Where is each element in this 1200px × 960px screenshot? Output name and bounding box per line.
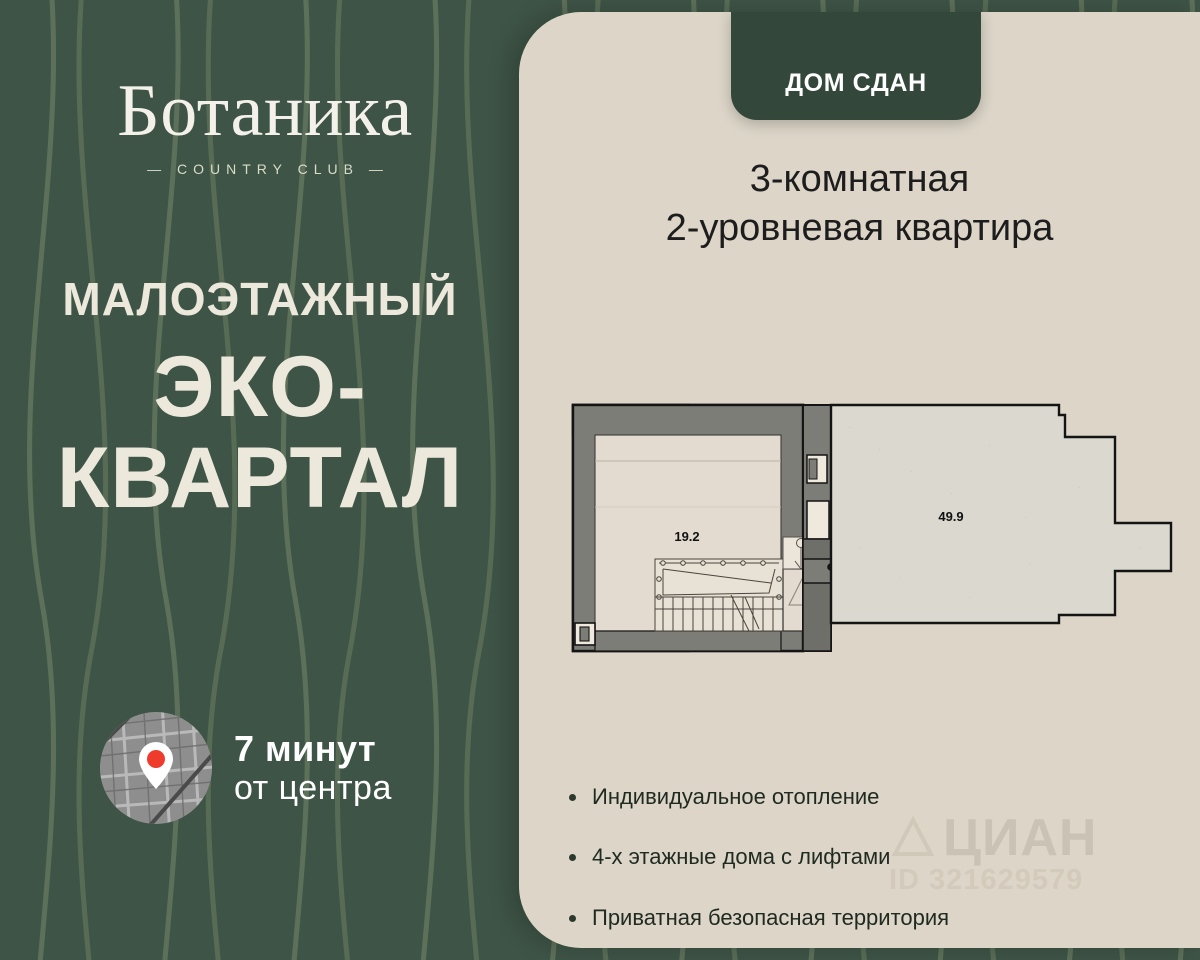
- brand-tagline: — COUNTRY CLUB —: [0, 161, 520, 177]
- offer-title-line-2: 2-уровневая квартира: [519, 204, 1200, 253]
- location-caption: от центра: [234, 769, 392, 808]
- left-column: Ботаника — COUNTRY CLUB — МАЛОЭТАЖНЫЙ ЭК…: [0, 0, 520, 960]
- list-item: Приватная безопасная территория: [569, 905, 1179, 931]
- bullet-icon: [569, 915, 576, 922]
- bullet-icon: [569, 794, 576, 801]
- headline: МАЛОЭТАЖНЫЙ ЭКО- КВАРТАЛ: [0, 276, 520, 524]
- floorplan-drawing: 19.2: [559, 397, 1189, 657]
- status-badge: ДОМ СДАН: [731, 12, 981, 120]
- feature-label: Индивидуальное отопление: [592, 784, 879, 810]
- feature-label: 4-х этажные дома с лифтами: [592, 844, 890, 870]
- advertisement-banner: Ботаника — COUNTRY CLUB — МАЛОЭТАЖНЫЙ ЭК…: [0, 0, 1200, 960]
- headline-line-1: МАЛОЭТАЖНЫЙ: [0, 276, 520, 322]
- list-item: 4-х этажные дома с лифтами: [569, 844, 1179, 870]
- brand-logo: Ботаника — COUNTRY CLUB —: [0, 76, 520, 177]
- status-badge-label: ДОМ СДАН: [785, 69, 926, 98]
- offer-panel: ДОМ СДАН 3-комнатная 2-уровневая квартир…: [519, 12, 1200, 948]
- floorplan-area-upper: 49.9: [938, 509, 963, 524]
- floorplan-upper-outline: [831, 405, 1171, 623]
- location-badge: 7 минут от центра: [100, 712, 392, 824]
- feature-list: Индивидуальное отопление 4-х этажные дом…: [569, 784, 1179, 931]
- headline-line-3: КВАРТАЛ: [0, 433, 520, 524]
- list-item: Индивидуальное отопление: [569, 784, 1179, 810]
- offer-title: 3-комнатная 2-уровневая квартира: [519, 155, 1200, 252]
- location-time: 7 минут: [234, 728, 392, 769]
- headline-line-2: ЭКО-: [0, 342, 520, 433]
- feature-label: Приватная безопасная территория: [592, 905, 949, 931]
- location-text: 7 минут от центра: [234, 728, 392, 808]
- map-pin-icon: [100, 712, 212, 824]
- bullet-icon: [569, 854, 576, 861]
- floorplan-area-lower: 19.2: [674, 529, 699, 544]
- offer-title-line-1: 3-комнатная: [519, 155, 1200, 204]
- brand-name: Ботаника: [0, 76, 520, 147]
